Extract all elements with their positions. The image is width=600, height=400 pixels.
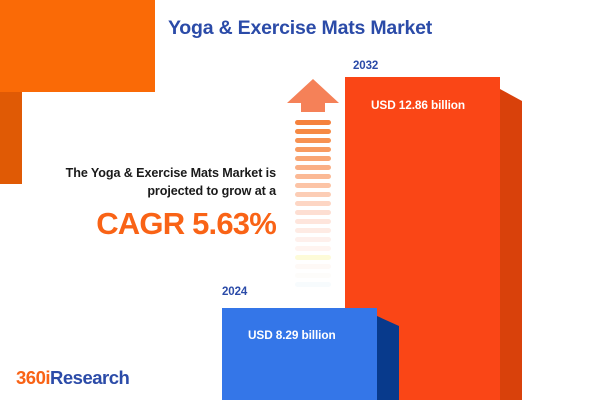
bar-2032-lower-side-face xyxy=(0,92,22,184)
bar-2032-lower-front-face xyxy=(0,0,155,92)
arrow-rung xyxy=(295,201,331,206)
bar-2032-group: 2032 USD 12.86 billion xyxy=(0,0,155,184)
arrow-rung xyxy=(295,156,331,161)
brand-logo-main: Research xyxy=(50,367,129,388)
bar-2024-side-face xyxy=(377,316,399,400)
arrow-rung xyxy=(295,246,331,251)
arrow-rung xyxy=(295,120,331,125)
arrow-rung xyxy=(295,192,331,197)
arrow-rung xyxy=(295,129,331,134)
arrow-rung xyxy=(295,138,331,143)
arrow-rung xyxy=(295,237,331,242)
market-infographic: Yoga & Exercise Mats Market The Yoga & E… xyxy=(0,0,600,400)
bar-2032-value-label: USD 12.86 billion xyxy=(371,98,465,112)
arrow-rung xyxy=(295,273,331,278)
arrow-rung xyxy=(295,282,331,287)
bar-2032-side-face xyxy=(500,89,522,400)
arrow-rung xyxy=(295,210,331,215)
arrow-rung xyxy=(295,147,331,152)
arrow-rung xyxy=(295,255,331,260)
arrow-rung xyxy=(295,219,331,224)
arrow-rung xyxy=(295,174,331,179)
growth-arrow-graphic xyxy=(286,78,340,294)
brand-logo: 360iResearch xyxy=(16,367,129,389)
arrow-rung xyxy=(295,183,331,188)
brand-logo-accent: 360i xyxy=(16,367,50,388)
arrow-rung xyxy=(295,228,331,233)
bar-2024-value-label: USD 8.29 billion xyxy=(248,328,336,342)
arrow-up-icon xyxy=(286,78,340,118)
bar-2024-front-face xyxy=(222,308,377,400)
arrow-rung xyxy=(295,264,331,269)
arrow-rung xyxy=(295,165,331,170)
bar-2024-year-label: 2024 xyxy=(222,286,247,298)
bar-2032-year-label: 2032 xyxy=(353,60,378,72)
cagr-value: CAGR 5.63% xyxy=(14,208,276,241)
